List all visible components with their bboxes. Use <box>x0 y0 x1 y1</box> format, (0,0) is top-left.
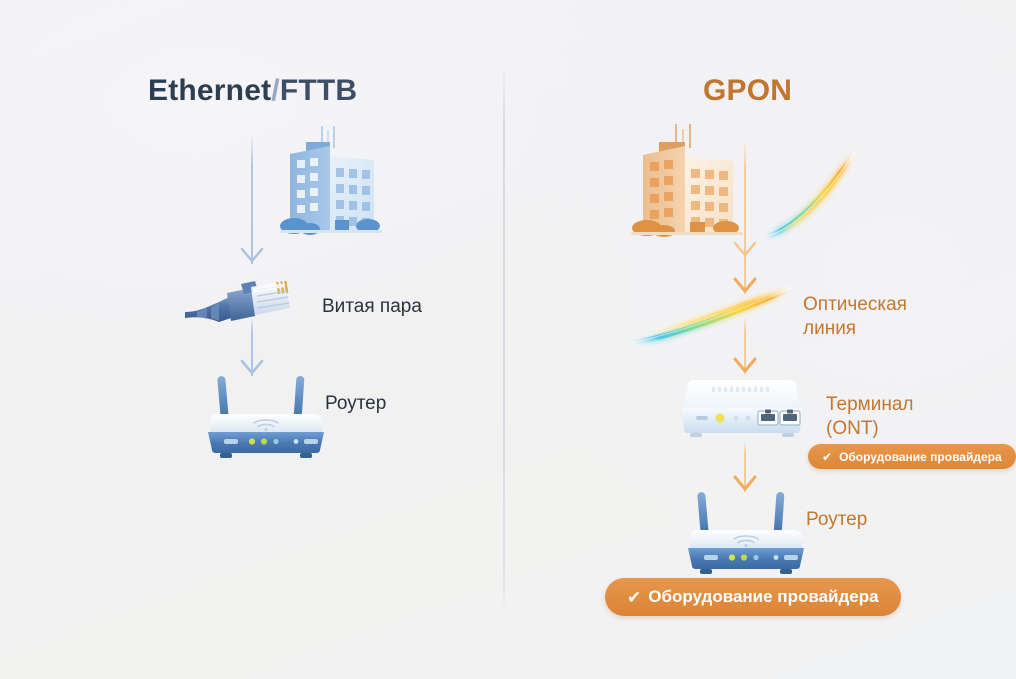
label-twisted-pair: Витая пара <box>322 295 422 319</box>
right-column-title: GPON <box>703 74 792 108</box>
title-ethernet: Ethernet <box>148 74 271 107</box>
status-badge-provider-equipment-ont: ✔ Оборудование провайдера <box>808 444 1016 469</box>
label-router-left: Роутер <box>325 392 386 416</box>
label-optical-line-1: Оптическая <box>803 294 907 315</box>
badge-ont-label: Оборудование провайдера <box>839 450 1002 464</box>
left-column-title: Ethernet/FTTB <box>148 74 357 108</box>
fiber-optic-strand-icon <box>620 282 800 354</box>
ont-terminal-icon <box>676 378 806 440</box>
title-slash: / <box>271 74 280 107</box>
building-orange-icon <box>627 124 747 244</box>
diagram-canvas: Ethernet/FTTB GPON <box>0 0 1016 679</box>
label-terminal-line-1: Терминал <box>826 394 914 415</box>
title-fttb: FTTB <box>280 74 357 107</box>
building-blue-icon <box>276 126 386 242</box>
label-optical-line-2: линия <box>803 318 856 339</box>
badge-router-label: Оборудование провайдера <box>648 587 878 607</box>
fiber-optic-strand-icon <box>756 140 872 246</box>
arrow-down-icon <box>733 318 757 374</box>
arrow-down-icon <box>733 442 757 492</box>
check-icon: ✔ <box>627 589 641 606</box>
arrow-down-icon <box>240 136 264 264</box>
vertical-divider <box>503 62 505 618</box>
status-badge-provider-equipment-router: ✔ Оборудование провайдера <box>605 578 901 616</box>
arrow-down-icon <box>733 142 757 258</box>
arrow-down-icon <box>240 318 264 376</box>
label-optical-line: Оптическая линия <box>803 293 907 341</box>
label-router-right: Роутер <box>806 508 867 532</box>
check-icon: ✔ <box>822 451 832 463</box>
label-terminal-line-2: (ONT) <box>826 418 879 439</box>
router-icon <box>676 490 816 576</box>
router-icon <box>196 374 336 460</box>
label-terminal-ont: Терминал (ONT) <box>826 393 914 441</box>
